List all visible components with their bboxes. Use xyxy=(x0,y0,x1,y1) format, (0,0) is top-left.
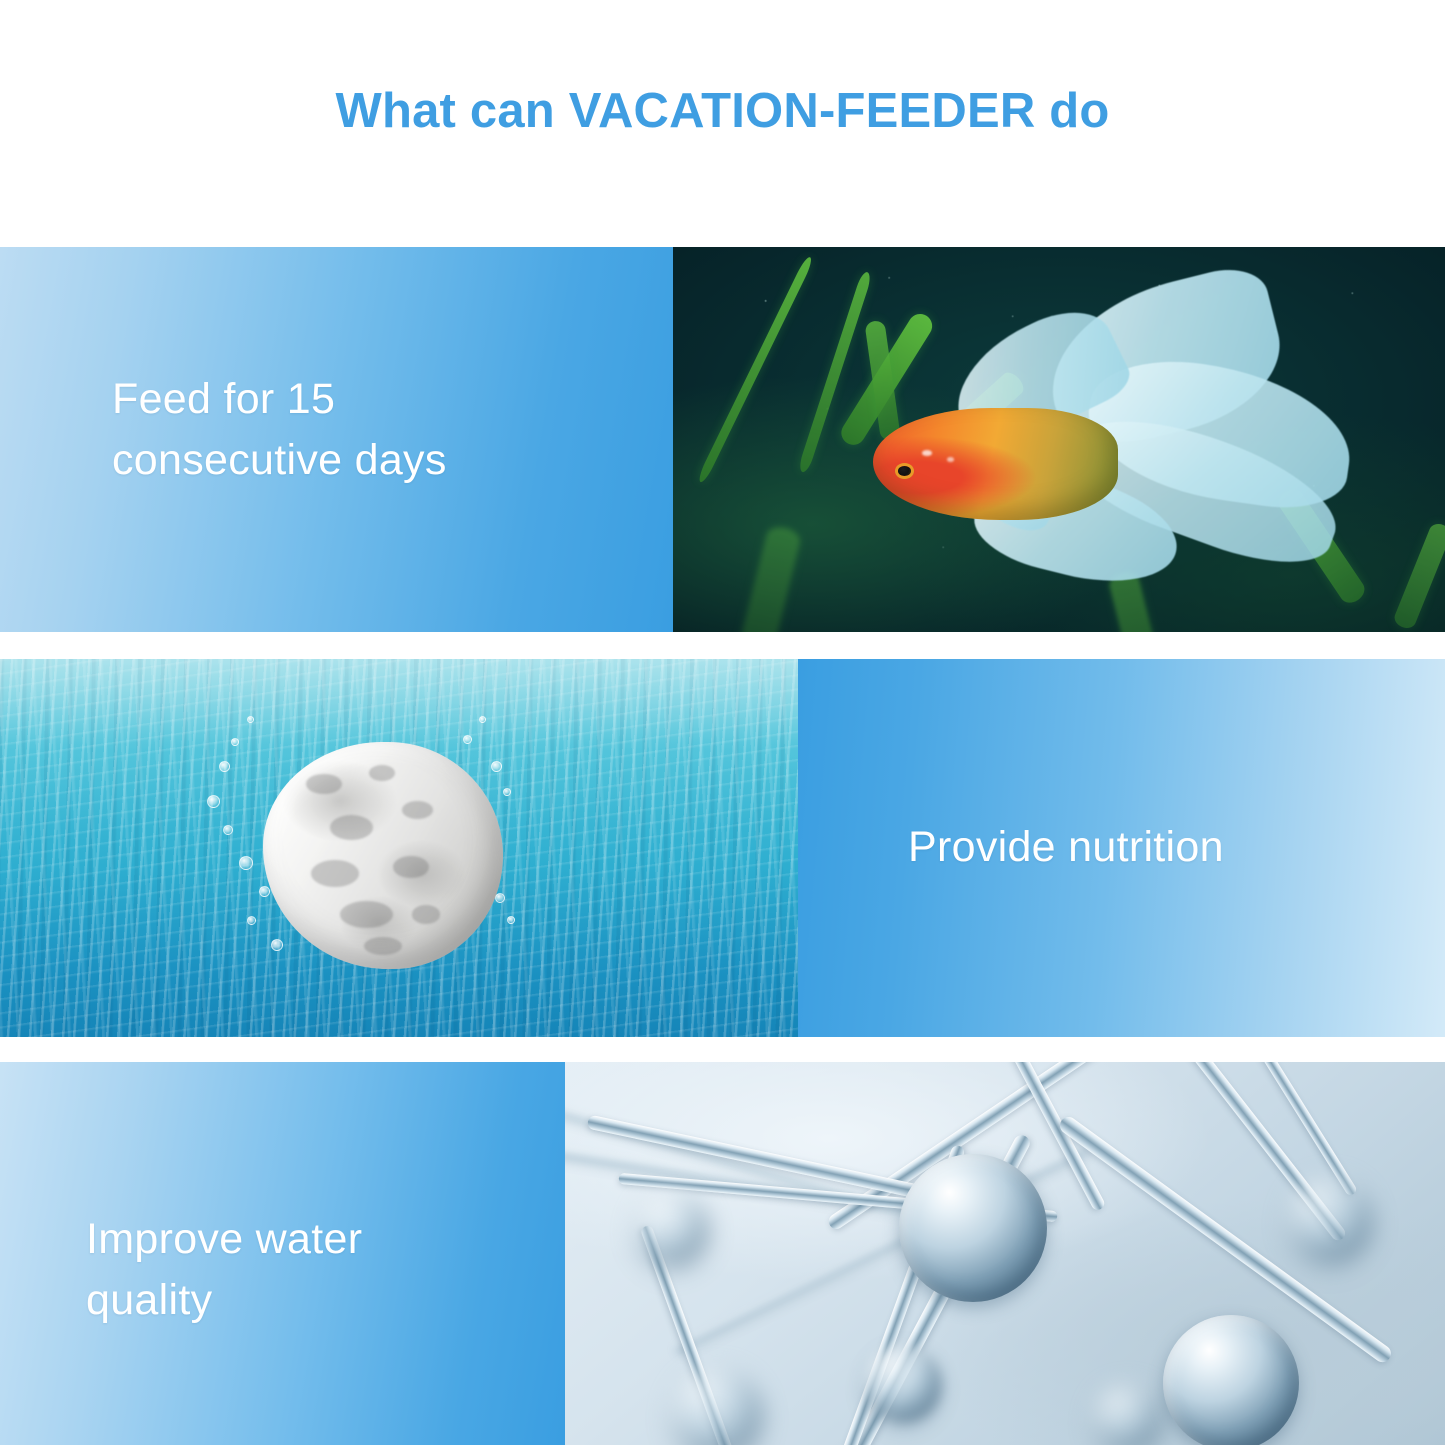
block-pit xyxy=(311,860,359,887)
bubble xyxy=(479,716,486,723)
bubble xyxy=(503,788,511,796)
caption-block-3: Improve water quality xyxy=(0,1062,565,1445)
block-pit xyxy=(402,801,433,819)
molecule-structure-photo xyxy=(565,1062,1445,1445)
molecule-node-background xyxy=(864,1345,942,1423)
caption-block-1: Feed for 15 consecutive days xyxy=(0,247,673,632)
molecule-node-background xyxy=(1093,1384,1163,1445)
fish-highlight xyxy=(947,457,954,461)
caption-text-3: Improve water quality xyxy=(86,1209,362,1331)
feature-panel-feed-duration: Feed for 15 consecutive days xyxy=(0,247,1445,632)
bubble xyxy=(239,856,253,870)
block-pit xyxy=(369,765,395,781)
block-pit xyxy=(306,774,342,794)
caption-block-2: Provide nutrition xyxy=(798,659,1445,1037)
bubble xyxy=(271,939,283,951)
molecule-node-secondary xyxy=(1163,1315,1299,1445)
feature-panel-water-quality: Improve water quality xyxy=(0,1062,1445,1445)
fish-highlight xyxy=(922,450,932,456)
block-pit xyxy=(393,856,429,879)
goldfish-aquarium-photo xyxy=(673,247,1445,632)
feature-panel-nutrition: Provide nutrition xyxy=(0,659,1445,1037)
block-pit xyxy=(412,905,441,923)
molecule-node-primary xyxy=(899,1154,1047,1302)
fish-body xyxy=(873,408,1118,520)
block-pit xyxy=(364,937,402,955)
feeder-block-water-photo xyxy=(0,659,798,1037)
header-banner: What can VACATION-FEEDER do xyxy=(0,0,1445,247)
fish-eye-icon xyxy=(898,466,911,476)
caption-text-2: Provide nutrition xyxy=(908,817,1224,878)
page-title: What can VACATION-FEEDER do xyxy=(336,83,1110,139)
bubble xyxy=(491,761,502,772)
molecule-node-background xyxy=(671,1368,763,1445)
bubble xyxy=(507,916,515,924)
molecule-node-background xyxy=(635,1192,709,1266)
bubble xyxy=(463,735,472,744)
goldfish-illustration xyxy=(843,332,1353,586)
molecule-node-background xyxy=(1287,1177,1373,1263)
block-pit xyxy=(330,815,373,840)
block-pit xyxy=(340,901,393,928)
caption-text-1: Feed for 15 consecutive days xyxy=(112,369,447,491)
